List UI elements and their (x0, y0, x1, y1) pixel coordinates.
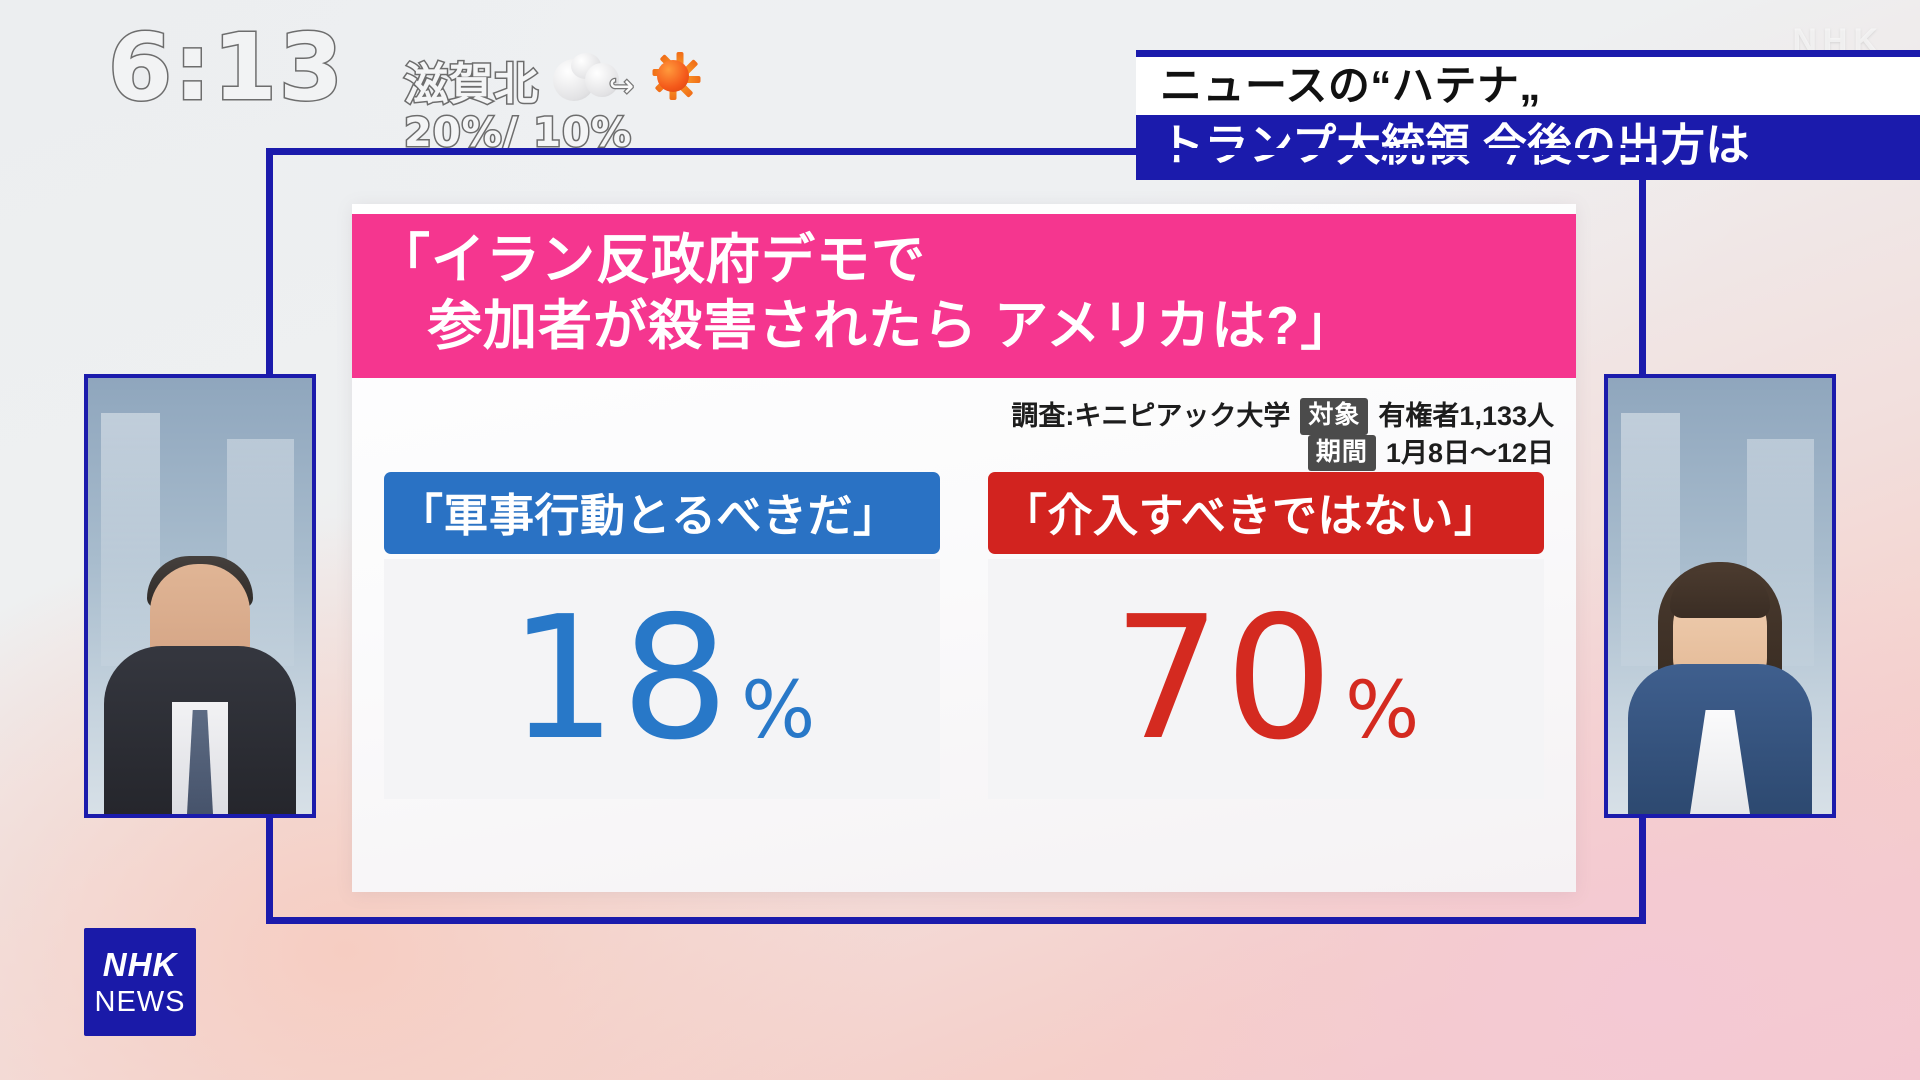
anchor-video-right (1604, 374, 1836, 818)
logo-news-text: NEWS (95, 986, 186, 1019)
survey-source: 調査:キニピアック大学 (1011, 399, 1290, 433)
weather-main-row: 滋賀北 ↪ (404, 48, 700, 112)
percentage-symbol-military: % (741, 672, 815, 750)
answer-label-military: 「軍事行動とるべきだ」 (384, 472, 940, 554)
answer-label-nointervention: 「介入すべきではない」 (988, 472, 1544, 554)
survey-period-tag: 期間 (1308, 435, 1376, 472)
survey-panel: 「イラン反政府デモで 参加者が殺害されたら アメリカは?」 調査:キニピアック大… (352, 204, 1576, 892)
anchor-right-bangs (1670, 570, 1770, 618)
answer-column-military: 「軍事行動とるべきだ」 18 % (384, 472, 940, 799)
survey-meta-row-2: 期間 1月8日〜12日 (1011, 435, 1554, 472)
logo-nhk-text: NHK (103, 946, 178, 984)
survey-meta-row-1: 調査:キニピアック大学 対象 有権者1,133人 (1011, 398, 1554, 435)
anchor-video-left (84, 374, 316, 818)
question-line-1: 「イラン反政府デモで (376, 228, 1556, 294)
percentage-military: 18 % (509, 594, 815, 764)
answer-column-nointervention: 「介入すべきではない」 70 % (988, 472, 1544, 799)
question-line-2: 参加者が殺害されたら アメリカは?」 (376, 294, 1556, 360)
survey-target-value: 有権者1,133人 (1378, 399, 1554, 433)
survey-period-value: 1月8日〜12日 (1386, 436, 1554, 470)
clock-display: 6:13 (108, 22, 345, 114)
sun-icon (646, 49, 700, 103)
answer-value-box-military: 18 % (384, 559, 940, 799)
weather-area-label: 滋賀北 (404, 48, 539, 112)
weather-icon-group: ↪ (549, 49, 700, 103)
percentage-symbol-nointervention: % (1345, 672, 1419, 750)
weather-widget: 滋賀北 ↪ 20%/ 10% (404, 48, 700, 156)
percentage-number-military: 18 (509, 594, 733, 764)
question-header: 「イラン反政府デモで 参加者が殺害されたら アメリカは?」 (352, 214, 1576, 378)
answer-columns: 「軍事行動とるべきだ」 18 % 「介入すべきではない」 70 % (384, 472, 1544, 799)
survey-target-tag: 対象 (1300, 398, 1368, 435)
survey-meta: 調査:キニピアック大学 対象 有権者1,133人 期間 1月8日〜12日 (1011, 398, 1554, 471)
arrow-right-icon: ↪ (609, 69, 634, 104)
nhk-news-logo: NHK NEWS (84, 928, 196, 1036)
ticker-program-title: ニュースの“ハテナ„ (1136, 50, 1920, 115)
percentage-number-nointervention: 70 (1113, 594, 1337, 764)
percentage-nointervention: 70 % (1113, 594, 1419, 764)
answer-value-box-nointervention: 70 % (988, 559, 1544, 799)
